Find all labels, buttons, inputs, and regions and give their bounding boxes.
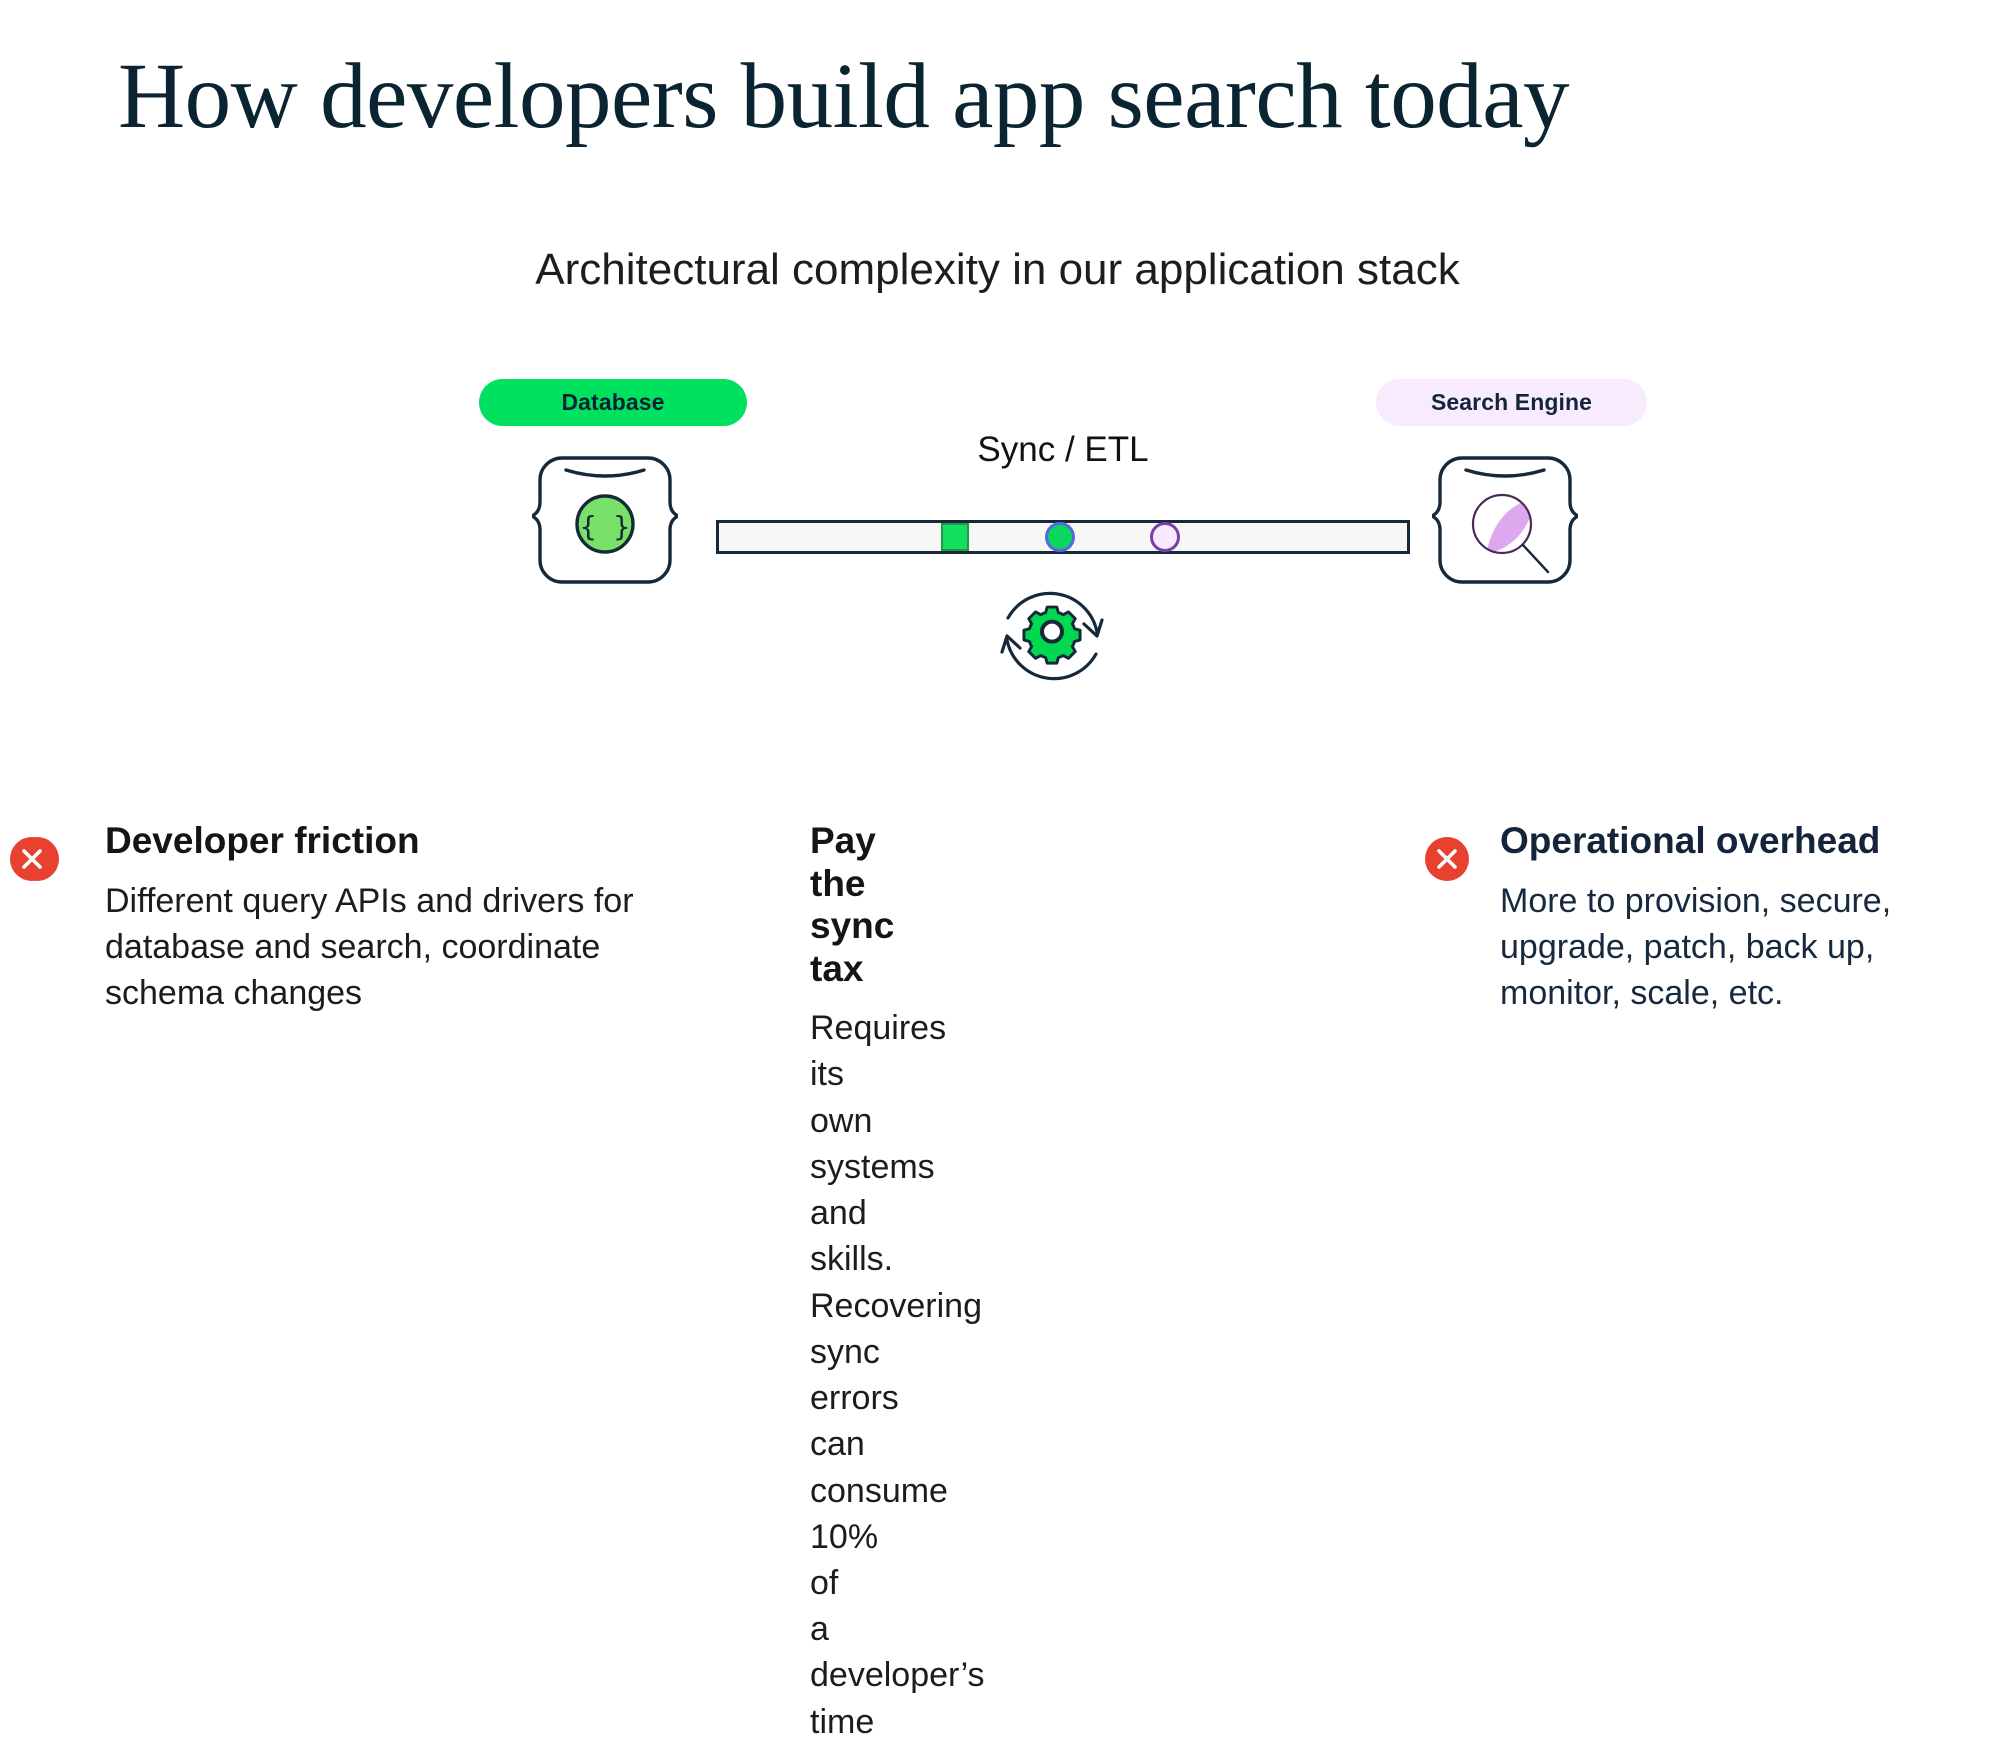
pain-point-body: More to provision, secure, upgrade, patc… — [1500, 878, 1985, 1017]
x-circle-icon — [10, 837, 54, 881]
sync-pipeline-bar — [716, 520, 1410, 554]
database-braces-icon: { } — [532, 454, 678, 586]
pipeline-token-circle-green — [1045, 522, 1075, 552]
x-circle-icon — [1425, 837, 1469, 881]
sync-gear-icon — [978, 580, 1126, 692]
search-engine-badge: Search Engine — [1376, 379, 1647, 426]
database-badge: Database — [479, 379, 747, 426]
pain-point-operational-overhead: Operational overhead More to provision, … — [1425, 820, 1985, 1016]
pain-point-sync-tax: Pay the sync tax Requires its own system… — [10, 820, 735, 1745]
pipeline-token-circle-purple — [1150, 522, 1180, 552]
pipeline-token-square — [941, 523, 969, 551]
page-subtitle: Architectural complexity in our applicat… — [0, 244, 1995, 297]
sync-etl-label: Sync / ETL — [716, 430, 1410, 470]
magnifier-icon — [1432, 454, 1578, 586]
svg-text:{ }: { } — [580, 510, 631, 543]
page-title: How developers build app search today — [118, 48, 1878, 146]
pain-point-heading: Operational overhead — [1500, 820, 1985, 863]
